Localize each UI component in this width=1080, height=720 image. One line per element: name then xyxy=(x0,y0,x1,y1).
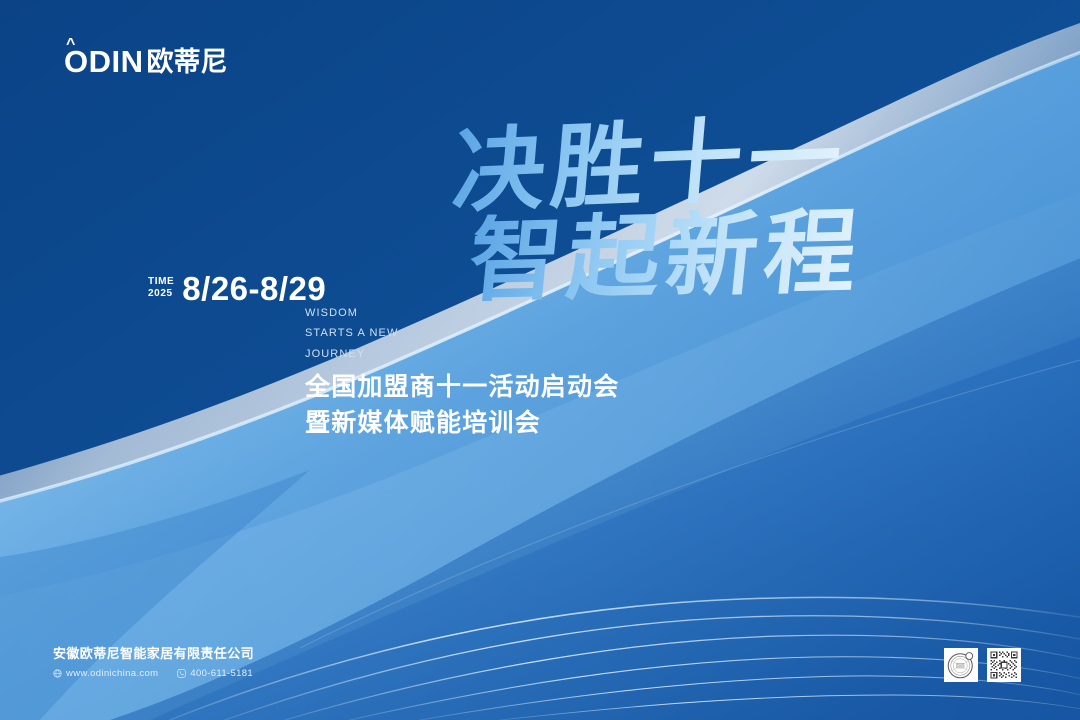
logo-mark-text: DIN xyxy=(89,44,144,79)
footer-info: 安徽欧蒂尼智能家居有限责任公司 www.odinichina.com 400-6… xyxy=(53,646,254,679)
headline-calligraphy: 决胜十一 智起新程 xyxy=(448,118,908,333)
tagline-line-1: WISDOM xyxy=(305,303,398,323)
qr-code-icon xyxy=(989,650,1019,680)
phone-text: 400-611-5181 xyxy=(190,668,253,679)
phone-icon xyxy=(177,669,186,678)
badge-group xyxy=(944,648,1021,682)
subtitle-line-2: 暨新媒体赋能培训会 xyxy=(305,406,619,442)
brand-logo: ^ODIN 欧蒂尼 xyxy=(64,46,228,77)
logo-chinese-name: 欧蒂尼 xyxy=(147,49,228,77)
english-tagline: WISDOM STARTS A NEW JOURNEY xyxy=(305,303,398,364)
time-label-word: TIME xyxy=(148,276,174,288)
time-label: TIME 2025 xyxy=(148,276,174,301)
event-poster: ^ODIN 欧蒂尼 决胜十一 智起新程 TIME 2025 8/26-8/29 … xyxy=(0,0,1080,720)
circular-seal-icon xyxy=(946,650,976,680)
event-date-range: 8/26-8/29 xyxy=(182,272,326,305)
website-text: www.odinichina.com xyxy=(66,668,158,679)
globe-icon xyxy=(53,669,62,678)
tagline-line-3: JOURNEY xyxy=(305,344,398,364)
contact-row: www.odinichina.com 400-611-5181 xyxy=(53,668,254,679)
logo-wordmark: ^ODIN xyxy=(64,46,144,77)
wechat-qr-badge[interactable] xyxy=(987,648,1021,682)
poster-background xyxy=(0,0,1080,720)
event-date-block: TIME 2025 8/26-8/29 xyxy=(148,272,326,305)
logo-macron-icon: ^ xyxy=(66,37,76,53)
time-label-year: 2025 xyxy=(148,288,174,300)
company-name: 安徽欧蒂尼智能家居有限责任公司 xyxy=(53,646,254,663)
phone-item[interactable]: 400-611-5181 xyxy=(177,668,253,679)
background-artwork xyxy=(0,0,1080,720)
official-seal-badge[interactable] xyxy=(944,648,978,682)
subtitle-line-1: 全国加盟商十一活动启动会 xyxy=(305,370,619,406)
headline-line-2: 智起新程 xyxy=(465,205,867,307)
website-item[interactable]: www.odinichina.com xyxy=(53,668,158,679)
tagline-line-2: STARTS A NEW xyxy=(305,323,398,343)
event-subtitle: 全国加盟商十一活动启动会 暨新媒体赋能培训会 xyxy=(305,370,619,441)
